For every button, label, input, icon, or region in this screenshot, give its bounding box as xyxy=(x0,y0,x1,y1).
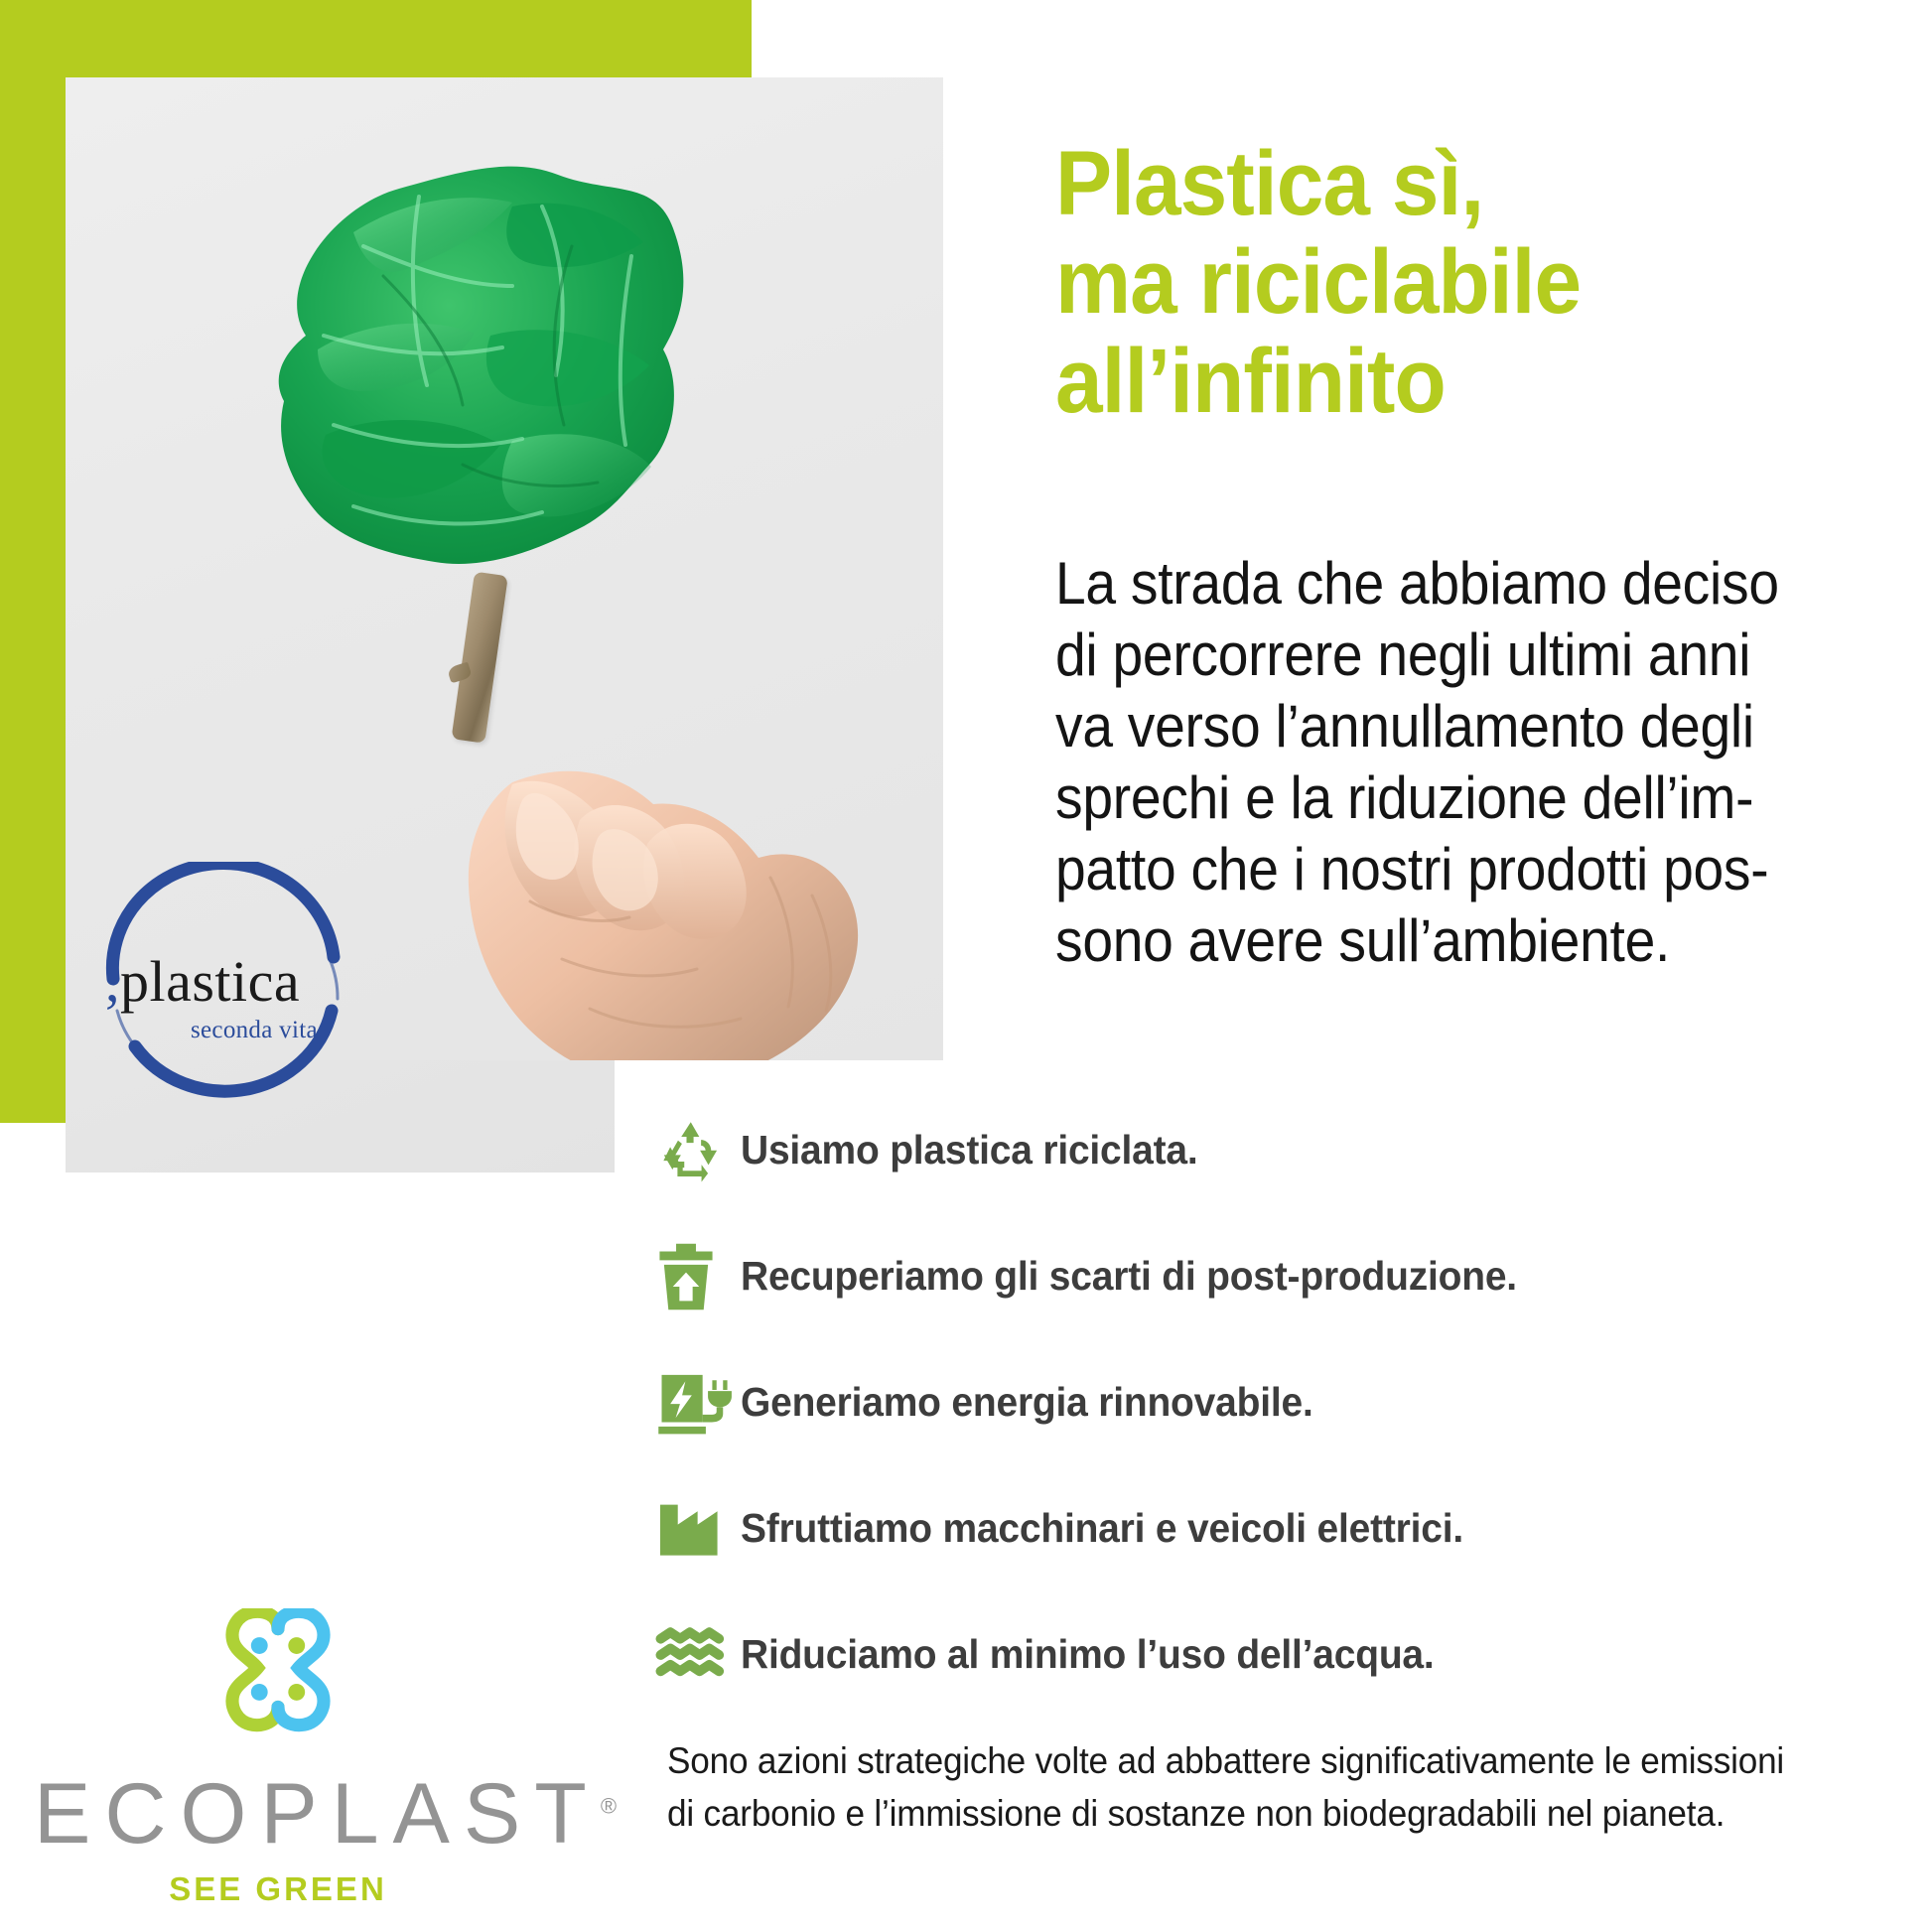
trash-recover-icon xyxy=(655,1237,741,1316)
hand-holding-tree xyxy=(363,673,919,1060)
lead-line-2: di percorrere negli ultimi anni xyxy=(1055,620,1786,691)
list-item: Riduciamo al minimo l’uso dell’acqua. xyxy=(655,1591,1827,1718)
registered-trademark-icon: ® xyxy=(601,1793,617,1818)
list-item: Recuperiamo gli scarti di post-produzion… xyxy=(655,1213,1827,1339)
plastica-logo-wordmark: ,plastica xyxy=(105,953,353,1011)
headline-line-1: Plastica sì, xyxy=(1055,135,1831,233)
sustainability-actions-list: Usiamo plastica riciclata. Recuperiamo g… xyxy=(655,1087,1827,1718)
water-waves-icon xyxy=(655,1615,741,1695)
plastic-tree-canopy xyxy=(214,137,691,604)
headline-line-3: all’infinito xyxy=(1055,333,1831,431)
factory-icon xyxy=(655,1489,741,1569)
list-item-label: Recuperiamo gli scarti di post-produzion… xyxy=(741,1253,1517,1300)
list-item: Generiamo energia rinnovabile. xyxy=(655,1339,1827,1465)
plastica-logo-subtitle: seconda vita xyxy=(191,1017,389,1044)
ev-charger-icon xyxy=(655,1363,741,1443)
poster-canvas: ,plastica seconda vita Plastica sì, ma r… xyxy=(0,0,1932,1932)
headline-line-2: ma riciclabile xyxy=(1055,233,1831,332)
plastica-seconda-vita-logo: ,plastica seconda vita xyxy=(95,862,348,1100)
lead-line-3: va verso l’annullamento degli xyxy=(1055,691,1786,762)
green-accent-block-top xyxy=(0,0,752,77)
ecoplast-tagline: SEE GREEN xyxy=(20,1870,536,1908)
lead-paragraph: La strada che abbiamo deciso di percorre… xyxy=(1055,548,1786,977)
page-title: Plastica sì, ma riciclabile all’infinito xyxy=(1055,135,1831,431)
lead-line-6: sono avere sull’ambiente. xyxy=(1055,905,1786,977)
recycle-icon xyxy=(655,1111,741,1190)
lead-line-4: sprechi e la riduzione dell’im- xyxy=(1055,762,1786,834)
lead-line-5: patto che i nostri prodotti pos- xyxy=(1055,834,1786,905)
list-item-label: Generiamo energia rinnovabile. xyxy=(741,1379,1313,1426)
footnote-line-2: di carbonio e l’immissione di sostanze n… xyxy=(667,1788,1828,1841)
footnote-text: Sono azioni strategiche volte ad abbatte… xyxy=(667,1735,1828,1840)
list-item-label: Usiamo plastica riciclata. xyxy=(741,1127,1198,1173)
ecoplast-logo: ECOPLAST® SEE GREEN xyxy=(20,1608,536,1916)
list-item-label: Sfruttiamo macchinari e veicoli elettric… xyxy=(741,1505,1463,1552)
plastica-logo-word: plastica xyxy=(120,949,300,1014)
lead-line-1: La strada che abbiamo deciso xyxy=(1055,548,1786,620)
ecoplast-butterfly-icon xyxy=(184,1608,372,1757)
ecoplast-wordmark-text: ECOPLAST xyxy=(34,1766,601,1862)
list-item: Usiamo plastica riciclata. xyxy=(655,1087,1827,1213)
ecoplast-wordmark: ECOPLAST® xyxy=(20,1771,536,1857)
plastica-logo-comma: , xyxy=(105,949,120,1014)
footnote-line-1: Sono azioni strategiche volte ad abbatte… xyxy=(667,1735,1828,1788)
list-item-label: Riduciamo al minimo l’uso dell’acqua. xyxy=(741,1631,1435,1678)
list-item: Sfruttiamo macchinari e veicoli elettric… xyxy=(655,1465,1827,1591)
